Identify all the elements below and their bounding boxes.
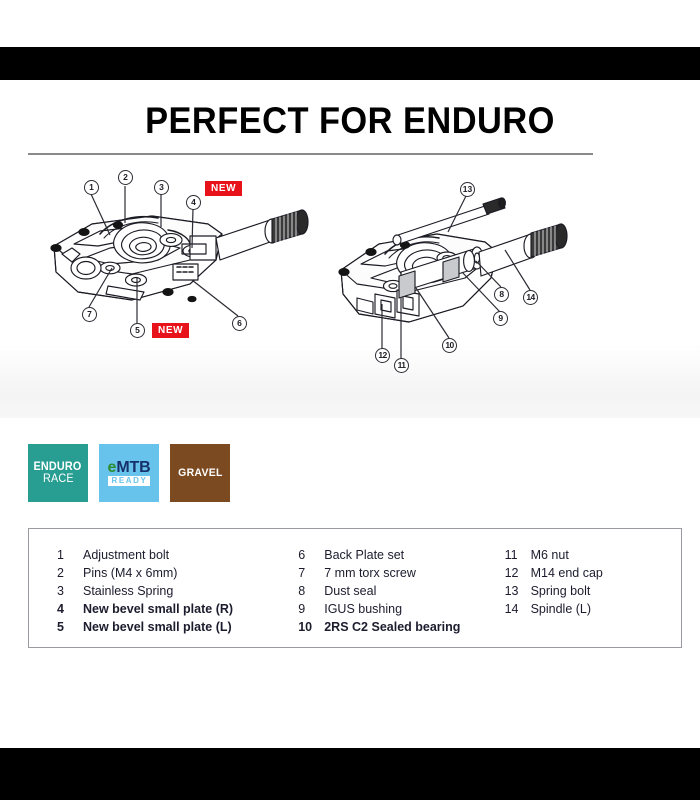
part-number: 14 — [505, 600, 531, 618]
part-number: 6 — [298, 546, 324, 564]
new-badge-bevel-r: NEW — [205, 181, 242, 196]
part-label: Stainless Spring — [83, 582, 173, 600]
part-label: IGUS bushing — [324, 600, 402, 618]
part-number: 10 — [298, 618, 324, 636]
badge-enduro-line1: ENDURO — [34, 461, 82, 473]
part-number: 2 — [57, 564, 83, 582]
parts-row: 6 Back Plate set — [298, 546, 504, 564]
parts-row: 10 2RS C2 Sealed bearing — [298, 618, 504, 636]
part-label: Pins (M4 x 6mm) — [83, 564, 177, 582]
pedal-assembled-illustration — [40, 168, 330, 368]
badge-enduro-race[interactable]: ENDURO RACE — [28, 444, 88, 502]
part-label: New bevel small plate (R) — [83, 600, 233, 618]
parts-list-box: 1 Adjustment bolt 2 Pins (M4 x 6mm) 3 St… — [28, 528, 682, 648]
parts-row: 14 Spindle (L) — [505, 600, 681, 618]
parts-row: 8 Dust seal — [298, 582, 504, 600]
part-label: Spindle (L) — [531, 600, 591, 618]
letterbox-bar-bottom — [0, 748, 700, 800]
badge-emtb-wordmark: e MTB — [108, 460, 151, 475]
parts-row: 11 M6 nut — [505, 546, 681, 564]
part-label: 7 mm torx screw — [324, 564, 416, 582]
callout-4[interactable]: 4 — [186, 195, 201, 210]
callout-1[interactable]: 1 — [84, 180, 99, 195]
pedal-axle-diagram: 13 8 9 10 11 12 14 — [335, 172, 645, 377]
badge-emtb-ready[interactable]: e MTB READY — [99, 444, 159, 502]
part-label: 2RS C2 Sealed bearing — [324, 618, 460, 636]
part-number: 3 — [57, 582, 83, 600]
badge-emtb-main: MTB — [116, 460, 150, 475]
part-number: 8 — [298, 582, 324, 600]
callout-13[interactable]: 13 — [460, 182, 475, 197]
parts-row: 9 IGUS bushing — [298, 600, 504, 618]
new-badge-bevel-l: NEW — [152, 323, 189, 338]
callout-12[interactable]: 12 — [375, 348, 390, 363]
parts-column-2: 6 Back Plate set 7 7 mm torx screw 8 Dus… — [298, 546, 504, 647]
part-label: M6 nut — [531, 546, 569, 564]
parts-row: 5 New bevel small plate (L) — [57, 618, 298, 636]
part-number: 9 — [298, 600, 324, 618]
callout-11[interactable]: 11 — [394, 358, 409, 373]
part-label: Adjustment bolt — [83, 546, 169, 564]
callout-6[interactable]: 6 — [232, 316, 247, 331]
part-label: Spring bolt — [531, 582, 591, 600]
title-divider — [28, 153, 593, 155]
pedal-axle-illustration — [335, 172, 645, 377]
callout-9[interactable]: 9 — [493, 311, 508, 326]
part-number: 12 — [505, 564, 531, 582]
callout-3[interactable]: 3 — [154, 180, 169, 195]
parts-row: 3 Stainless Spring — [57, 582, 298, 600]
callout-2[interactable]: 2 — [118, 170, 133, 185]
callout-14[interactable]: 14 — [523, 290, 538, 305]
parts-row: 4 New bevel small plate (R) — [57, 600, 298, 618]
part-number: 11 — [505, 546, 531, 564]
letterbox-bar-top — [0, 47, 700, 80]
callout-5[interactable]: 5 — [130, 323, 145, 338]
page-title: PERFECT FOR ENDURO — [25, 100, 676, 142]
callout-7[interactable]: 7 — [82, 307, 97, 322]
parts-row: 12 M14 end cap — [505, 564, 681, 582]
badge-enduro-line2: RACE — [43, 473, 74, 486]
badge-emtb-prefix: e — [108, 460, 117, 475]
part-number: 1 — [57, 546, 83, 564]
callout-8[interactable]: 8 — [494, 287, 509, 302]
parts-column-3: 11 M6 nut 12 M14 end cap 13 Spring bolt … — [505, 546, 681, 647]
part-number: 5 — [57, 618, 83, 636]
badge-emtb-sub: READY — [108, 476, 149, 486]
parts-list-columns: 1 Adjustment bolt 2 Pins (M4 x 6mm) 3 St… — [29, 529, 681, 647]
discipline-badges: ENDURO RACE e MTB READY GRAVEL — [28, 444, 230, 502]
part-label: New bevel small plate (L) — [83, 618, 232, 636]
part-number: 13 — [505, 582, 531, 600]
callout-10[interactable]: 10 — [442, 338, 457, 353]
part-label: Back Plate set — [324, 546, 404, 564]
parts-row: 2 Pins (M4 x 6mm) — [57, 564, 298, 582]
content-area: PERFECT FOR ENDURO — [0, 80, 700, 748]
badge-gravel-label: GRAVEL — [178, 467, 222, 479]
parts-row: 13 Spring bolt — [505, 582, 681, 600]
part-label: M14 end cap — [531, 564, 603, 582]
part-number: 7 — [298, 564, 324, 582]
part-label: Dust seal — [324, 582, 376, 600]
badge-gravel[interactable]: GRAVEL — [170, 444, 230, 502]
parts-row: 7 7 mm torx screw — [298, 564, 504, 582]
parts-row: 1 Adjustment bolt — [57, 546, 298, 564]
part-number: 4 — [57, 600, 83, 618]
product-spec-page: PERFECT FOR ENDURO — [0, 0, 700, 800]
pedal-assembled-diagram: 1 2 3 4 5 6 7 NEW NEW — [40, 168, 330, 368]
parts-column-1: 1 Adjustment bolt 2 Pins (M4 x 6mm) 3 St… — [29, 546, 298, 647]
